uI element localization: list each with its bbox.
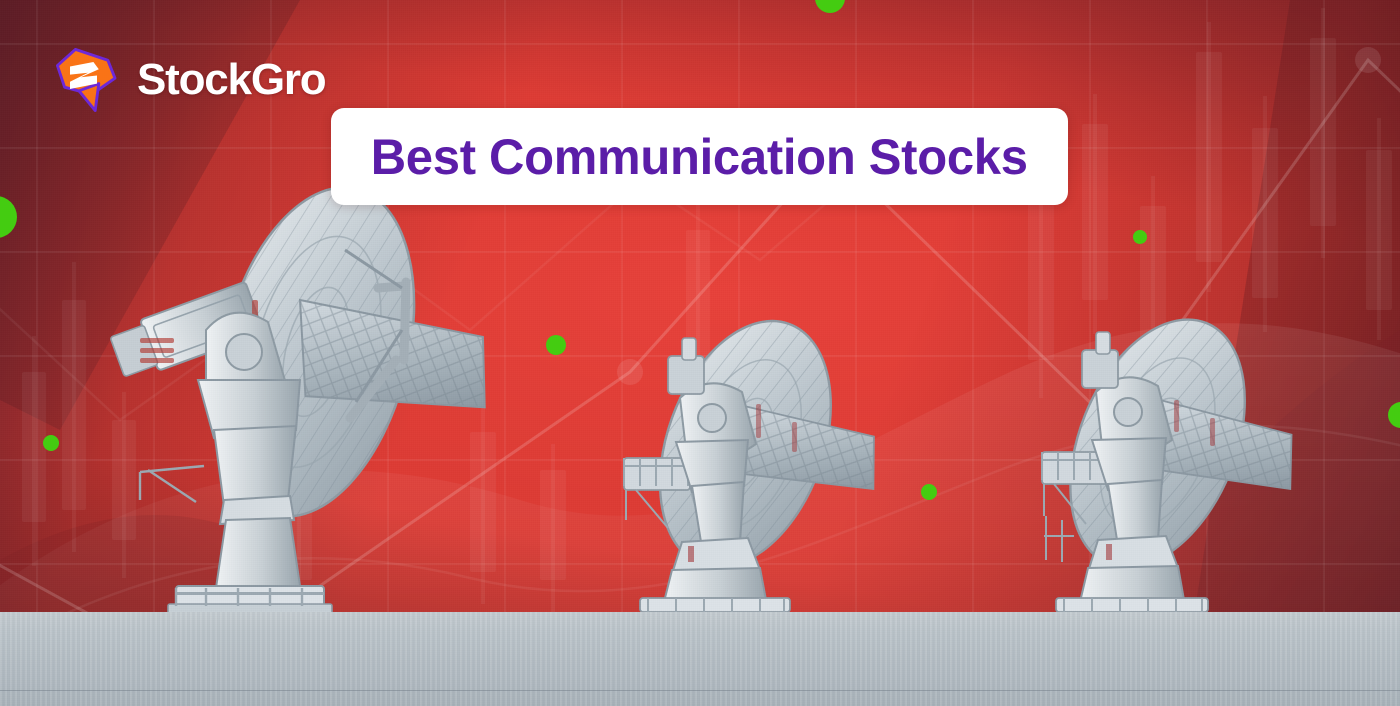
- brand-logo[interactable]: StockGro: [52, 44, 325, 116]
- headline-card: Best Communication Stocks: [331, 108, 1068, 205]
- green-dot-lower-mid: [921, 484, 937, 500]
- green-dot-mid-left: [43, 435, 59, 451]
- green-dot-upper-right: [1133, 230, 1147, 244]
- banner-root: StockGro Best Communication Stocks: [0, 0, 1400, 706]
- page-title: Best Communication Stocks: [371, 128, 1028, 186]
- green-dot-left-edge: [0, 196, 17, 238]
- stockgro-pentagon-logo-icon: [52, 44, 124, 116]
- green-dot-right-edge: [1388, 402, 1400, 428]
- green-dot-top: [815, 0, 845, 13]
- green-dot-center: [546, 335, 566, 355]
- brand-wordmark: StockGro: [137, 55, 325, 105]
